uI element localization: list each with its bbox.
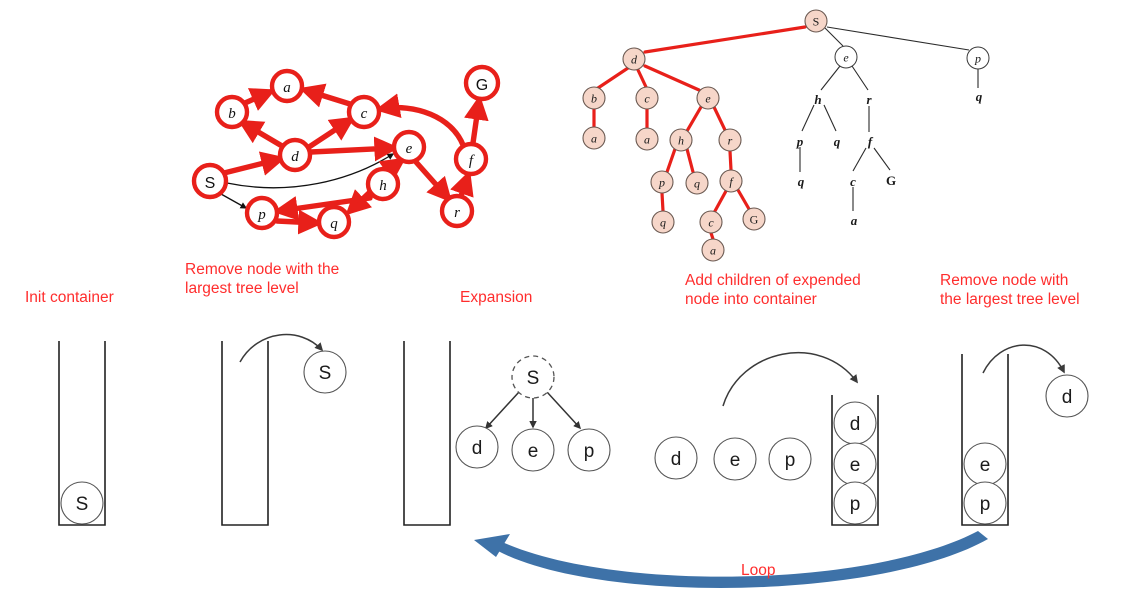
tree-node-q-2[interactable]: q bbox=[652, 211, 674, 233]
graph-node-c[interactable]: c bbox=[349, 97, 379, 127]
tree-node-G-label: G bbox=[750, 213, 759, 227]
container-3 bbox=[404, 341, 450, 525]
tree-node-a-3-label: a bbox=[710, 244, 716, 258]
tree-plain-r: r bbox=[866, 92, 872, 107]
stage-2-removed-node-S[interactable]: S bbox=[304, 351, 346, 393]
graph-node-f[interactable]: f bbox=[456, 144, 486, 174]
tree-node-h-label: h bbox=[678, 134, 684, 148]
tree-plain-q: q bbox=[834, 134, 841, 149]
tree-plain-h: h bbox=[814, 92, 821, 107]
graph-node-h-label: h bbox=[379, 178, 387, 194]
tree-node-b-label: b bbox=[591, 92, 597, 106]
graph-node-p-label: p bbox=[257, 207, 266, 223]
stage-1-item-S-label: S bbox=[76, 494, 89, 515]
tree-node-p-label: p bbox=[658, 176, 665, 190]
graph-node-c-label: c bbox=[361, 106, 368, 122]
graph-edge-S-p bbox=[221, 194, 246, 208]
stage-1-item-S[interactable]: S bbox=[61, 482, 103, 524]
expansion-edge-S-p bbox=[547, 392, 580, 428]
tree-node-e-level2[interactable]: e bbox=[697, 87, 719, 109]
tree-plain-q3: q bbox=[976, 89, 983, 104]
tree-edge-S-e bbox=[825, 28, 843, 46]
stage-5-item-p[interactable]: p bbox=[964, 482, 1006, 524]
tree-edge-h-p bbox=[802, 105, 814, 131]
stage-5-remove-arrow bbox=[983, 345, 1064, 373]
tree-edge-f-c bbox=[853, 148, 866, 171]
graph-edge-r-f bbox=[461, 176, 468, 196]
stage-4-group: d e p d e p bbox=[655, 353, 878, 525]
tree-edge-h-p2 bbox=[667, 149, 675, 172]
tree-node-e-level1-label: e bbox=[843, 51, 849, 65]
tree-node-a-2-label: a bbox=[644, 133, 650, 147]
stage-4-item-e[interactable]: e bbox=[834, 443, 876, 485]
tree-edge-d-b bbox=[598, 68, 628, 88]
tree-edge-f-G2 bbox=[738, 190, 749, 209]
tree-plain-q2: q bbox=[798, 174, 805, 189]
tree-plain-G: G bbox=[886, 173, 896, 188]
tree-node-c[interactable]: c bbox=[636, 87, 658, 109]
tree-node-d-label: d bbox=[631, 53, 638, 67]
stage-3-group: S d e p bbox=[404, 341, 610, 525]
graph-node-e[interactable]: e bbox=[394, 132, 424, 162]
annotation-add-children: Add children of expended node into conta… bbox=[685, 271, 925, 309]
stage-4-loose-node-e-label: e bbox=[730, 450, 741, 471]
tree-circled-nodes: S d e p b bbox=[583, 10, 989, 261]
graph-edge-S-d bbox=[224, 159, 280, 173]
stage-4-loose-node-d-label: d bbox=[671, 449, 682, 470]
graph-node-b-label: b bbox=[228, 106, 236, 122]
graph-node-G[interactable]: G bbox=[466, 67, 498, 99]
stage-3-child-p-label: p bbox=[584, 441, 595, 462]
tree-node-S[interactable]: S bbox=[805, 10, 827, 32]
stage-4-loose-node-d[interactable]: d bbox=[655, 437, 697, 479]
stage-5-removed-node-d-label: d bbox=[1062, 387, 1073, 408]
tree-node-a-3[interactable]: a bbox=[702, 239, 724, 261]
tree-edge-e-h2 bbox=[687, 107, 701, 131]
stage-4-loose-node-e[interactable]: e bbox=[714, 438, 756, 480]
tree-plain-c: c bbox=[850, 174, 856, 189]
stage-4-add-arrow bbox=[723, 353, 857, 406]
graph-node-a-label: a bbox=[283, 80, 291, 96]
graph-edge-b-a bbox=[245, 92, 270, 103]
tree-node-p-level1[interactable]: p bbox=[967, 47, 989, 69]
tree-edge-h-q1 bbox=[687, 149, 693, 172]
stage-4-item-d-label: d bbox=[850, 414, 861, 435]
tree-node-b[interactable]: b bbox=[583, 87, 605, 109]
tree-node-q-2-label: q bbox=[660, 216, 666, 230]
tree-node-q-1-label: q bbox=[694, 177, 700, 191]
stage-4-item-e-label: e bbox=[850, 455, 861, 476]
stage-5-item-e[interactable]: e bbox=[964, 443, 1006, 485]
tree-edge-f-G bbox=[874, 148, 890, 170]
tree-edge-S-d bbox=[645, 27, 805, 52]
graph-node-S[interactable]: S bbox=[194, 165, 226, 197]
graph-node-G-label: G bbox=[476, 77, 488, 94]
graph-node-q[interactable]: q bbox=[319, 207, 349, 237]
tree-node-a-2[interactable]: a bbox=[636, 128, 658, 150]
stage-1-group: S bbox=[59, 341, 105, 525]
tree-plain-a: a bbox=[851, 213, 858, 228]
search-graph-group: a b c G d bbox=[194, 67, 498, 237]
stage-3-child-d[interactable]: d bbox=[456, 426, 498, 468]
tree-node-G[interactable]: G bbox=[743, 208, 765, 230]
stage-5-item-p-label: p bbox=[980, 494, 991, 515]
annotation-loop: Loop bbox=[741, 562, 775, 580]
graph-edge-d-b bbox=[243, 123, 282, 146]
tree-edge-r-f2 bbox=[730, 151, 731, 170]
stage-3-expanded-node-S-label: S bbox=[527, 368, 540, 389]
tree-node-c-2-label: c bbox=[708, 216, 714, 230]
graph-node-d[interactable]: d bbox=[280, 140, 310, 170]
graph-node-r[interactable]: r bbox=[442, 196, 472, 226]
annotation-init-container: Init container bbox=[25, 288, 185, 307]
tree-node-p[interactable]: p bbox=[651, 171, 673, 193]
graph-edge-c-a bbox=[305, 90, 350, 104]
tree-node-e-level1[interactable]: e bbox=[835, 46, 857, 68]
stage-5-removed-node-d[interactable]: d bbox=[1046, 375, 1088, 417]
annotation-remove-largest-level-1: Remove node with the largest tree level bbox=[185, 260, 390, 298]
stage-5-item-e-label: e bbox=[980, 455, 991, 476]
tree-node-d[interactable]: d bbox=[623, 48, 645, 70]
tree-node-e-level2-label: e bbox=[705, 92, 711, 106]
tree-edge-d-c bbox=[638, 70, 646, 87]
graph-node-p[interactable]: p bbox=[247, 198, 277, 228]
stage-3-expanded-node-S[interactable]: S bbox=[512, 356, 554, 398]
tree-edge-e-h bbox=[821, 66, 840, 90]
tree-node-h[interactable]: h bbox=[670, 129, 692, 151]
tree-node-c-2[interactable]: c bbox=[700, 211, 722, 233]
graph-node-a[interactable]: a bbox=[272, 71, 302, 101]
annotation-remove-largest-level-2: Remove node with the largest tree level bbox=[940, 271, 1121, 309]
graph-node-b[interactable]: b bbox=[217, 97, 247, 127]
graph-node-d-label: d bbox=[291, 149, 299, 165]
expansion-edge-S-d bbox=[486, 392, 519, 428]
container-2 bbox=[222, 341, 268, 525]
stage-4-loose-node-p[interactable]: p bbox=[769, 438, 811, 480]
tree-edge-c2-a3 bbox=[711, 233, 713, 239]
tree-edge-e-r2 bbox=[714, 107, 725, 130]
tree-node-c-label: c bbox=[644, 92, 650, 106]
stage-4-item-d[interactable]: d bbox=[834, 402, 876, 444]
tree-node-r-label: r bbox=[728, 134, 733, 148]
stage-4-item-p[interactable]: p bbox=[834, 482, 876, 524]
graph-node-S-label: S bbox=[205, 175, 216, 192]
tree-edge-e-r bbox=[852, 66, 868, 90]
annotation-expansion: Expansion bbox=[460, 288, 590, 307]
graph-edge-e-r bbox=[416, 162, 448, 198]
tree-edge-p-q2 bbox=[662, 193, 663, 211]
tree-plain-nodes: h r p q f q c G a q bbox=[796, 89, 983, 228]
tree-node-f[interactable]: f bbox=[720, 170, 742, 192]
stage-2-group: S bbox=[222, 335, 346, 525]
stage-2-removed-node-S-label: S bbox=[319, 363, 332, 384]
graph-node-e-label: e bbox=[406, 141, 413, 157]
stage-4-item-p-label: p bbox=[850, 494, 861, 515]
graph-node-h[interactable]: h bbox=[368, 169, 398, 199]
stage-3-child-e-label: e bbox=[528, 441, 539, 462]
stage-3-child-p[interactable]: p bbox=[568, 429, 610, 471]
tree-edge-d-e bbox=[645, 66, 699, 90]
tree-node-q-1[interactable]: q bbox=[686, 172, 708, 194]
diagram-canvas: a b c G d bbox=[0, 0, 1121, 606]
search-tree-group: S d e p b bbox=[583, 10, 989, 261]
graph-edge-f-G bbox=[473, 101, 479, 143]
tree-node-S-label: S bbox=[813, 15, 820, 29]
graph-edge-p-q bbox=[277, 221, 317, 223]
tree-node-a-1-label: a bbox=[591, 132, 597, 146]
tree-edge-h-q bbox=[824, 105, 836, 131]
stage-4-loose-node-p-label: p bbox=[785, 450, 796, 471]
stage-3-child-e[interactable]: e bbox=[512, 429, 554, 471]
tree-plain-p: p bbox=[796, 134, 804, 149]
loop-arrow-group bbox=[474, 531, 988, 588]
stage-5-group: d e p bbox=[962, 345, 1088, 525]
graph-node-q-label: q bbox=[330, 216, 338, 232]
tree-node-r[interactable]: r bbox=[719, 129, 741, 151]
tree-edge-f-c2 bbox=[715, 191, 726, 211]
graph-edge-d-c bbox=[309, 120, 350, 147]
tree-node-a-1[interactable]: a bbox=[583, 127, 605, 149]
tree-node-p-level1-label: p bbox=[974, 52, 981, 66]
stage-3-child-d-label: d bbox=[472, 438, 483, 459]
graph-edge-d-e bbox=[311, 148, 393, 152]
graph-node-r-label: r bbox=[454, 205, 460, 221]
tree-plain-f: f bbox=[868, 134, 874, 149]
